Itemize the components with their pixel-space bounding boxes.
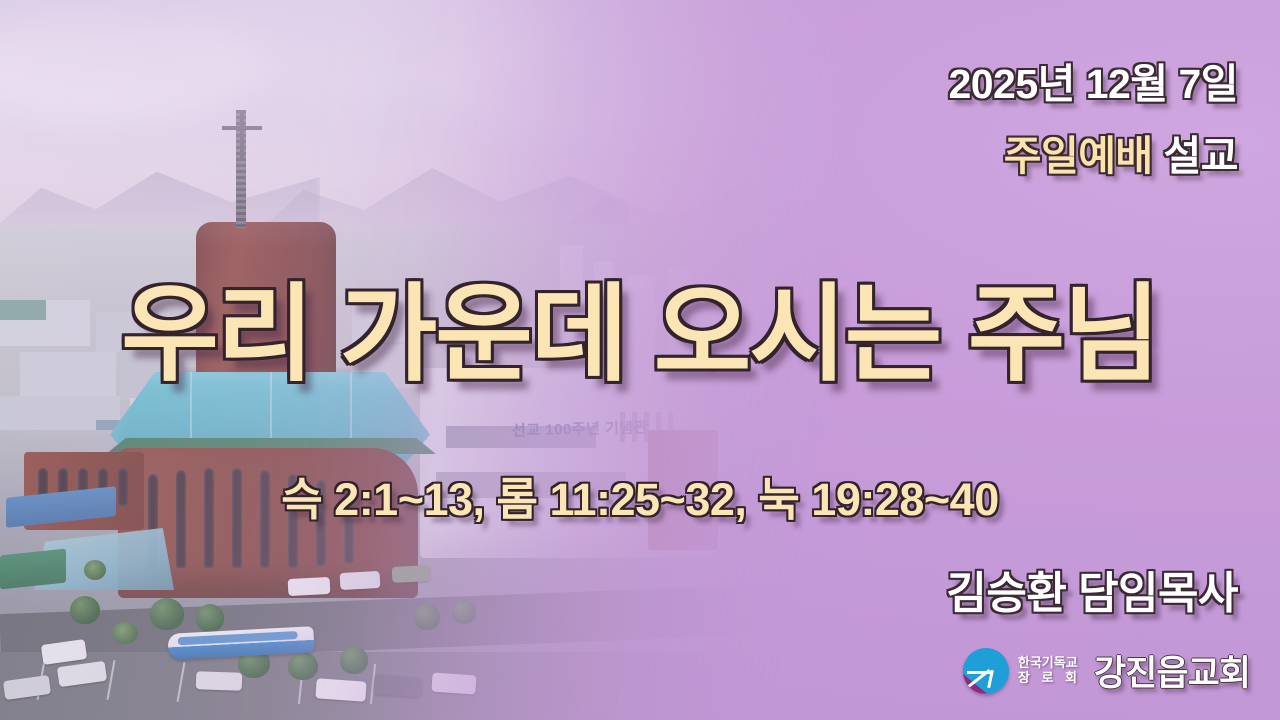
denomination-text: 한국기독교 장 로 회: [1018, 656, 1081, 684]
church-logo: 한국기독교 장 로 회 강진읍교회: [963, 645, 1250, 696]
preacher-name: 김승환 담임목사: [946, 557, 1238, 621]
church-name: 강진읍교회: [1094, 645, 1250, 696]
scripture-reference: 슥 2:1~13, 롬 11:25~32, 눅 19:28~40: [0, 463, 1280, 528]
service-date: 2025년 12월 7일: [948, 50, 1238, 110]
church-emblem-icon: [963, 648, 1009, 694]
sermon-thumbnail-slide: 선교 100주년 기념관: [0, 0, 1280, 720]
denomination-line-2: 장 로 회: [1018, 671, 1081, 685]
service-type-suffix: 설교: [1153, 133, 1238, 179]
sermon-title: 우리 가운데 오시는 주님: [0, 248, 1280, 402]
service-type-line: 주일예배 설교: [1004, 122, 1238, 182]
emblem-stripe: [967, 671, 992, 674]
service-type-highlight: 주일예배: [1004, 133, 1153, 179]
denomination-line-1: 한국기독교: [1018, 656, 1081, 670]
